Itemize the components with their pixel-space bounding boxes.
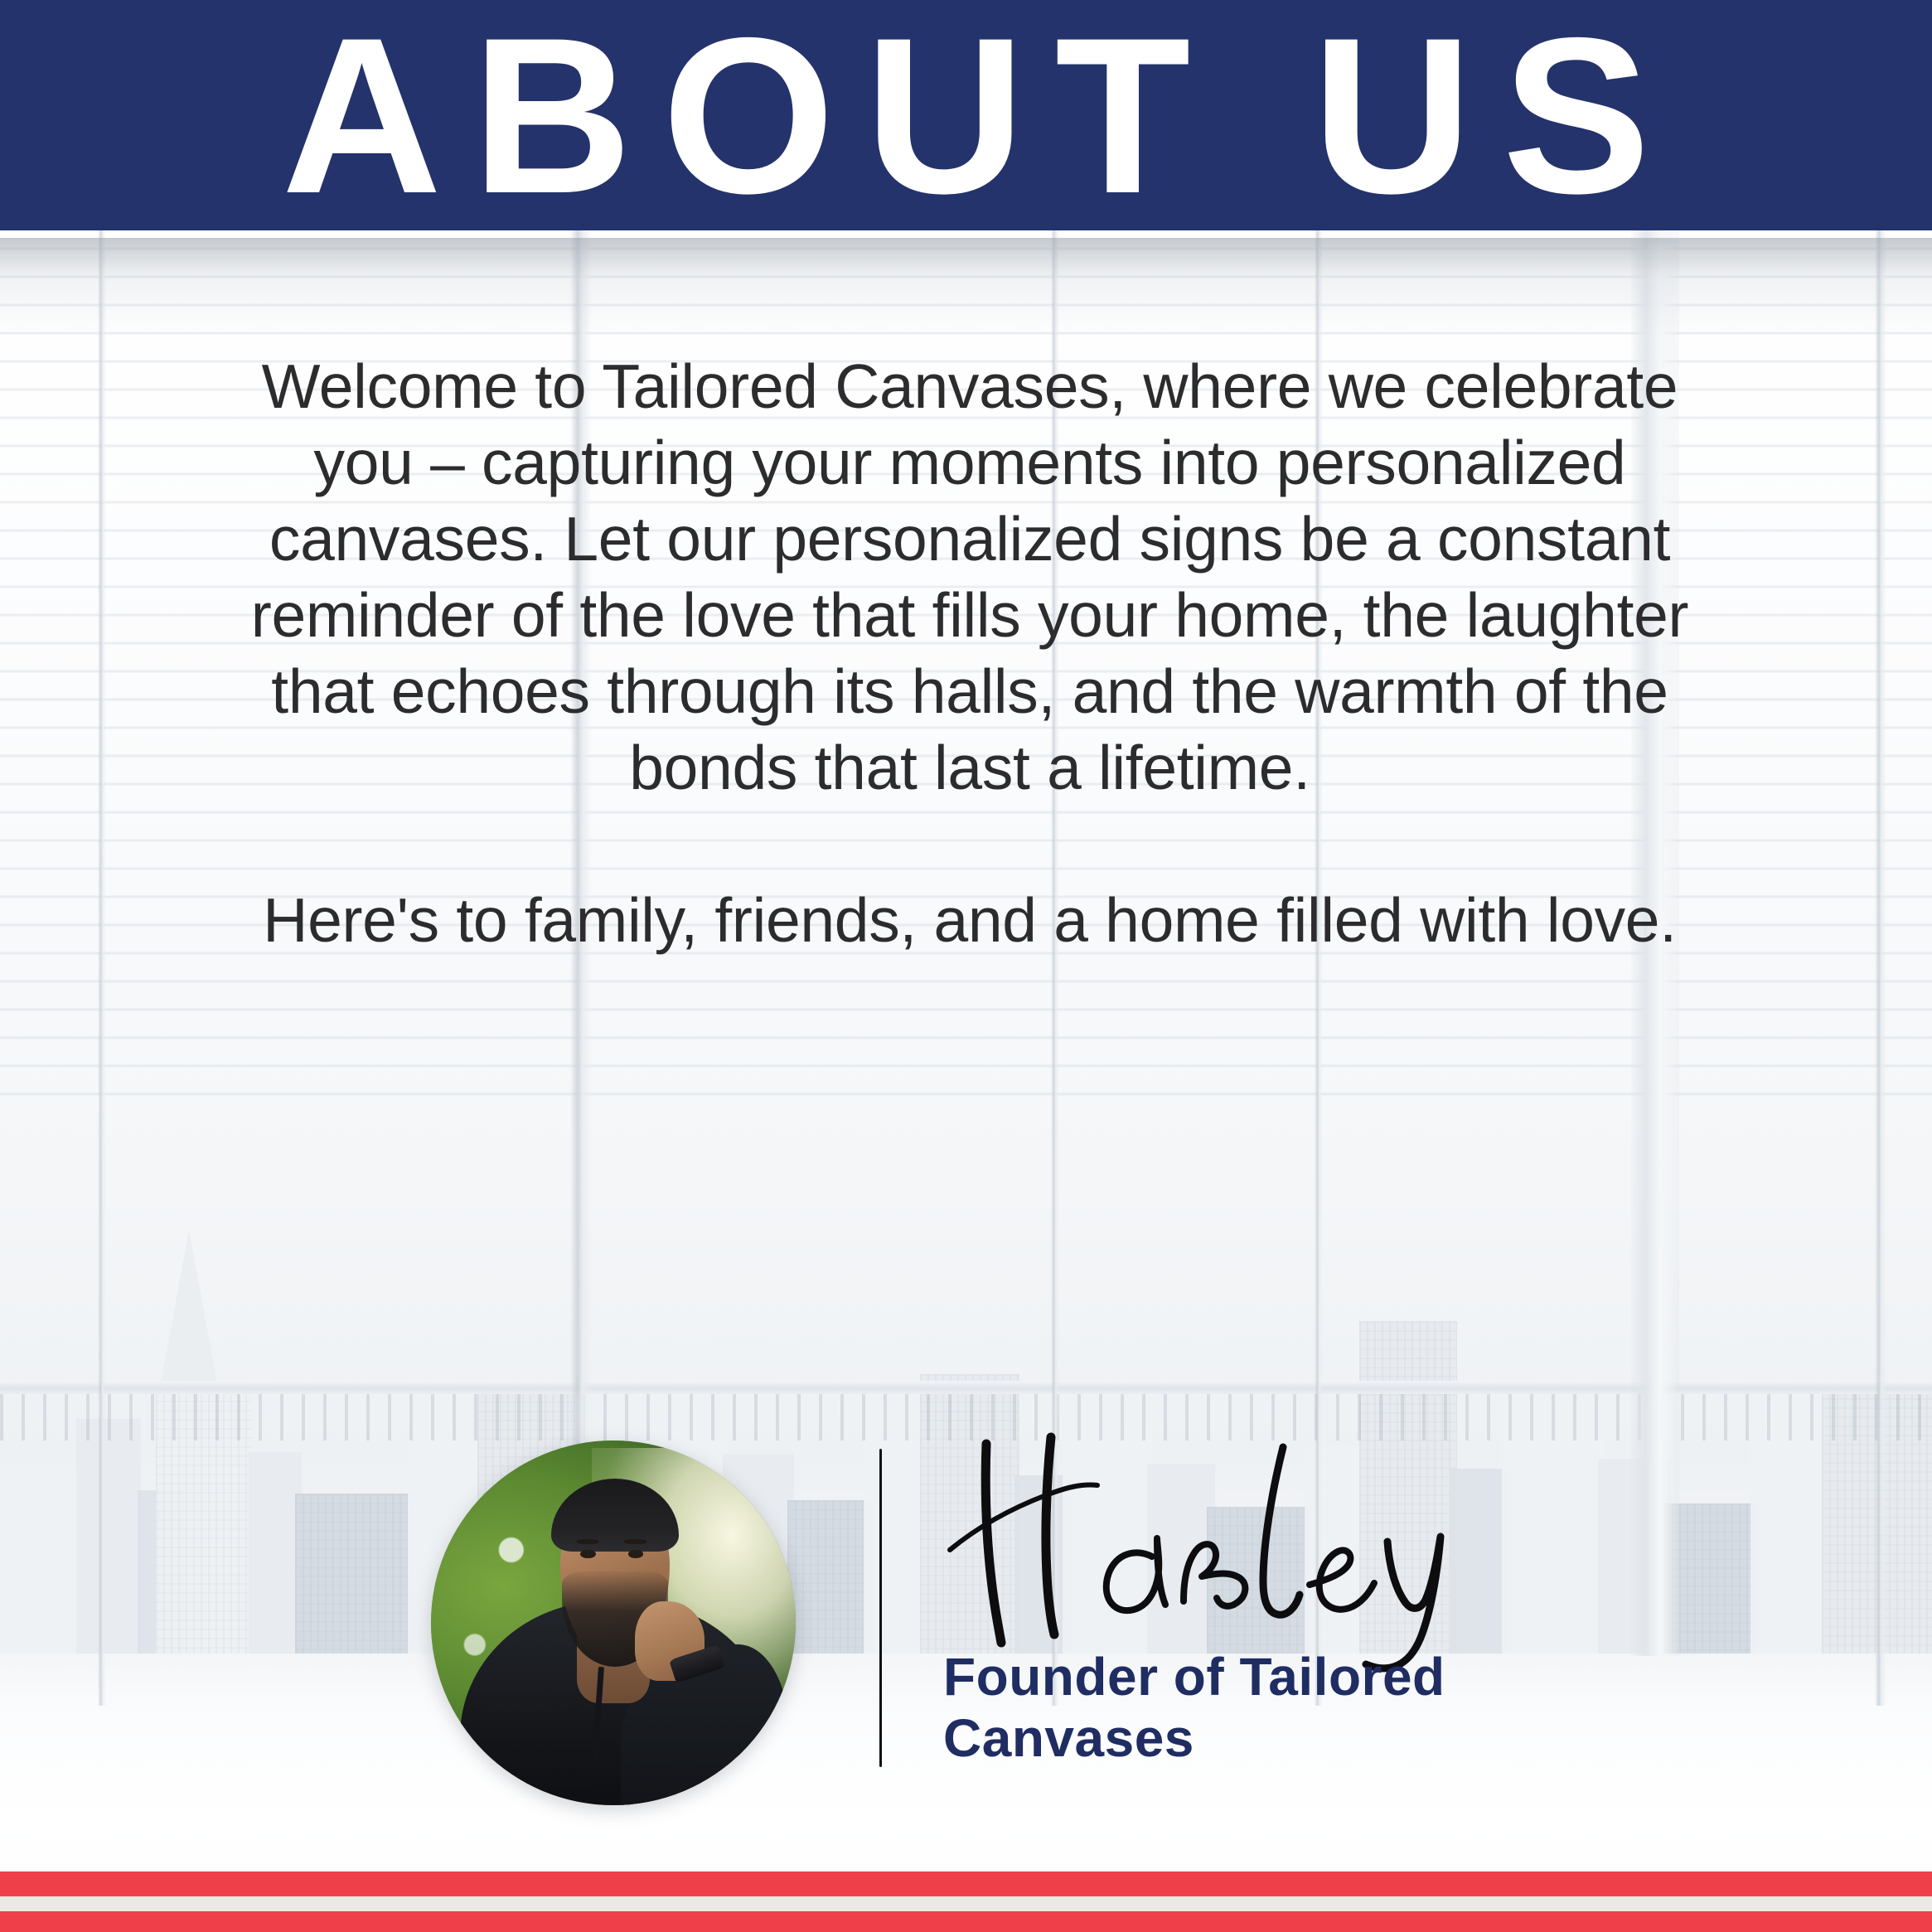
about-copy: Welcome to Tailored Canvases, where we c… [249, 348, 1691, 958]
footer-stripe-gap [0, 1896, 1932, 1911]
page-title: ABOUT US [252, 4, 1681, 226]
about-us-poster: ABOUT US Welcome to Tailored Canvases, w… [0, 0, 1932, 1932]
footer-stripe-bottom [0, 1911, 1932, 1932]
founder-role-line-2: Canvases [943, 1707, 1590, 1769]
header-drop-shadow [0, 238, 1932, 337]
founder-role-line-1: Founder of Tailored [943, 1646, 1590, 1707]
founder-block: Harley Founder of Tailored Canvases [0, 1409, 1932, 1840]
pyramid-tower-spire [159, 1230, 219, 1392]
signature-icon [935, 1426, 1565, 1674]
about-paragraph-2: Here's to family, friends, and a home fi… [249, 882, 1691, 958]
about-paragraph-1: Welcome to Tailored Canvases, where we c… [249, 348, 1691, 806]
founder-role: Founder of Tailored Canvases [943, 1646, 1590, 1769]
vertical-divider [879, 1449, 882, 1767]
paragraph-spacer [249, 806, 1691, 882]
founder-portrait-photo [431, 1441, 796, 1805]
avatar [431, 1441, 796, 1805]
footer-stripe-top [0, 1871, 1932, 1896]
header-bar: ABOUT US [0, 0, 1932, 230]
signature-harley: Harley [935, 1426, 1565, 1674]
